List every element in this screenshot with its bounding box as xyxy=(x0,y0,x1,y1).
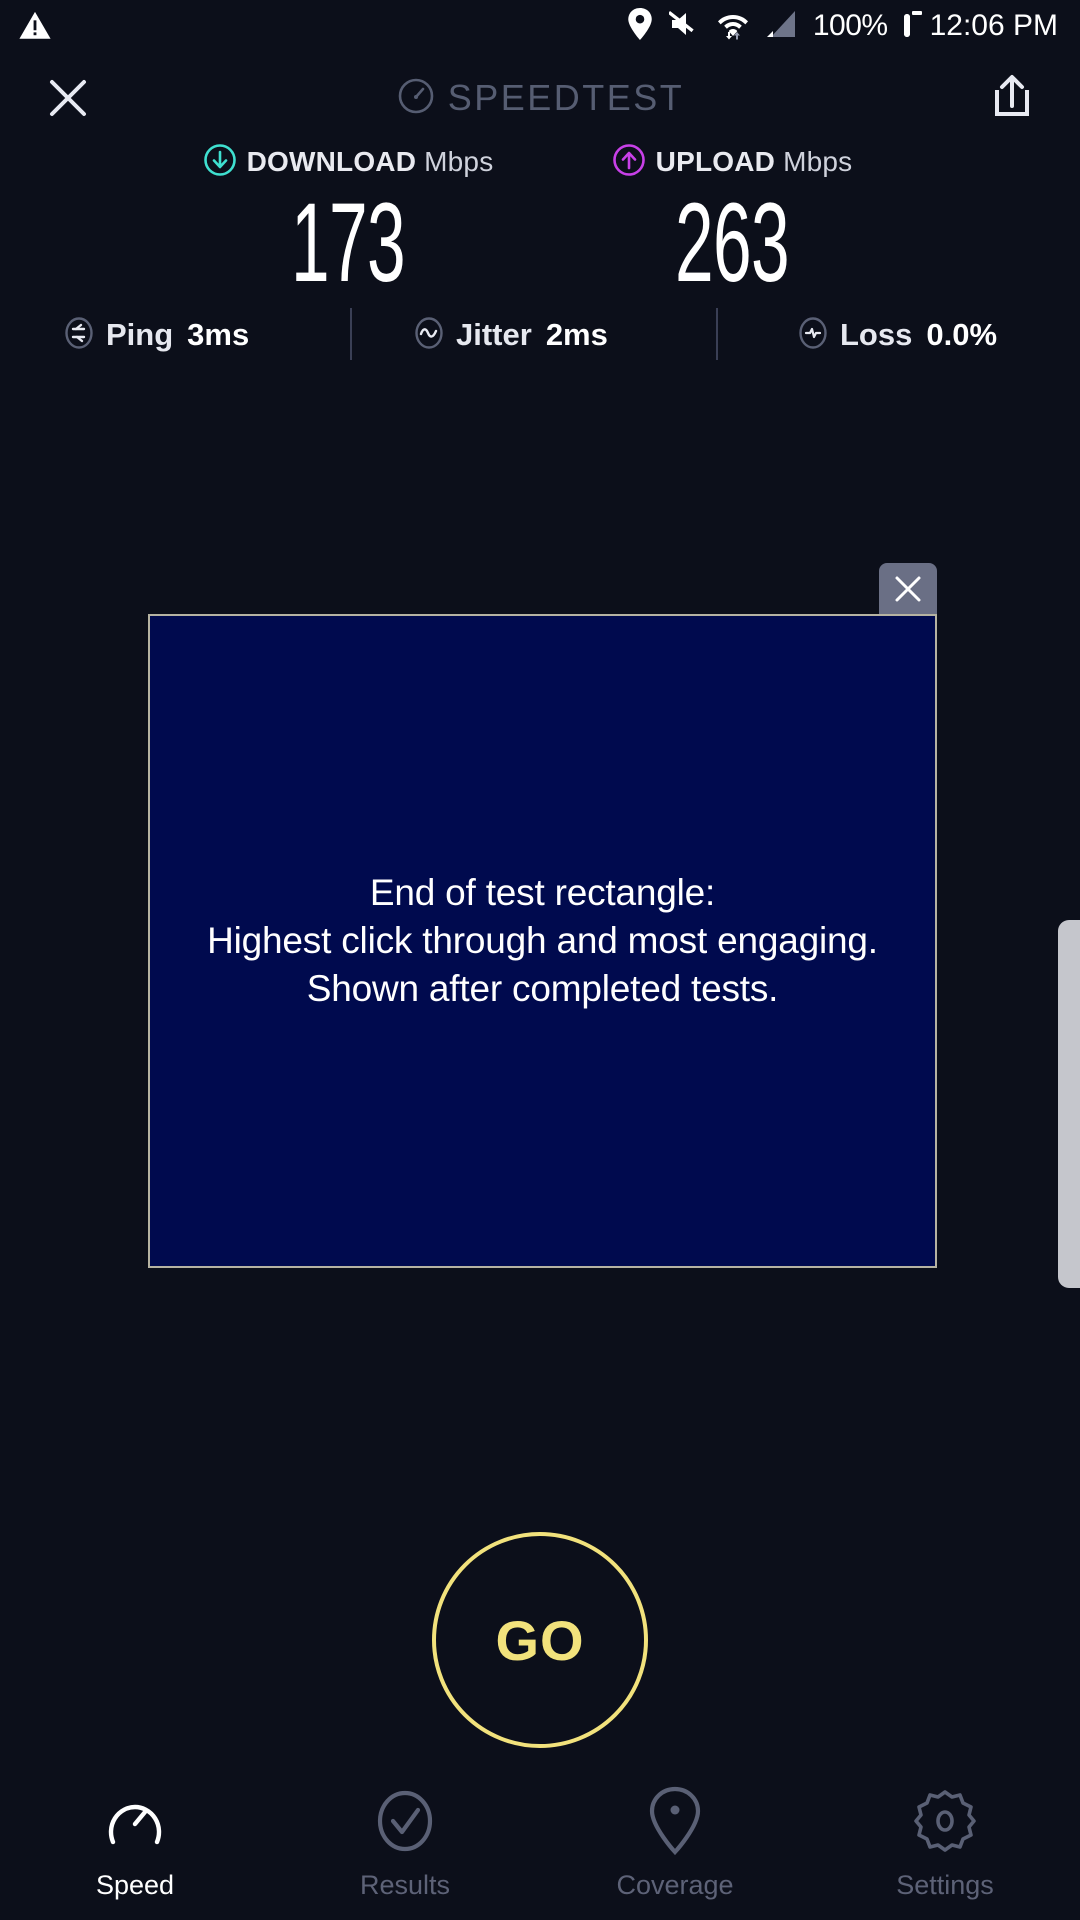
close-icon xyxy=(44,74,92,127)
brand-label: SPEEDTEST xyxy=(448,77,685,119)
bottom-navigation-bar: Speed Results Coverage xyxy=(0,1760,1080,1920)
upload-result: UPLOAD Mbps 263 xyxy=(542,142,922,296)
ping-icon xyxy=(62,316,96,355)
speed-results-row: DOWNLOAD Mbps 173 UPLOAD xyxy=(0,142,1080,296)
download-unit: Mbps xyxy=(424,146,493,177)
arrow-down-circle-icon xyxy=(203,143,237,182)
gear-icon xyxy=(913,1786,977,1856)
loss-value: 0.0% xyxy=(926,317,997,353)
loss-label: Loss xyxy=(840,317,912,353)
nav-item-results[interactable]: Results xyxy=(270,1760,540,1920)
upload-header: UPLOAD Mbps xyxy=(542,142,922,182)
metrics-row: Ping 3ms Jitter 2ms Loss 0.0 xyxy=(0,300,1080,370)
status-bar: 100% 12:06 PM xyxy=(0,0,1080,52)
warning-triangle-icon xyxy=(18,9,52,48)
metric-divider-2 xyxy=(716,308,718,360)
advertisement-banner[interactable]: End of test rectangle: Highest click thr… xyxy=(148,614,937,1268)
upload-value: 263 xyxy=(614,190,850,296)
go-button-label: GO xyxy=(495,1608,584,1673)
ad-line-1: End of test rectangle: xyxy=(370,869,715,917)
ad-line-3: Shown after completed tests. xyxy=(307,965,779,1013)
loss-icon xyxy=(796,316,830,355)
volume-muted-icon xyxy=(669,9,701,44)
jitter-icon xyxy=(412,316,446,355)
close-button[interactable] xyxy=(36,68,100,132)
download-value: 173 xyxy=(230,190,466,296)
ad-scrollbar[interactable] xyxy=(1058,920,1080,1288)
share-button[interactable] xyxy=(980,66,1044,130)
upload-label-group: UPLOAD Mbps xyxy=(656,146,853,178)
upload-label: UPLOAD xyxy=(656,146,775,177)
battery-percent-label: 100% xyxy=(813,9,888,43)
metric-loss: Loss 0.0% xyxy=(796,316,997,355)
nav-label-speed: Speed xyxy=(96,1870,174,1901)
nav-label-coverage: Coverage xyxy=(616,1870,733,1901)
speedometer-icon xyxy=(104,1786,166,1856)
status-bar-right-group: 100% 12:06 PM xyxy=(627,0,1058,52)
location-pin-icon xyxy=(627,8,653,45)
metric-jitter: Jitter 2ms xyxy=(412,316,608,355)
download-header: DOWNLOAD Mbps xyxy=(158,142,538,182)
nav-item-speed[interactable]: Speed xyxy=(0,1760,270,1920)
app-header: SPEEDTEST xyxy=(0,58,1080,138)
ad-text-block: End of test rectangle: Highest click thr… xyxy=(150,616,935,1266)
ad-line-2: Highest click through and most engaging. xyxy=(207,917,878,965)
jitter-value: 2ms xyxy=(546,317,608,353)
download-result: DOWNLOAD Mbps 173 xyxy=(158,142,538,296)
nav-item-coverage[interactable]: Coverage xyxy=(540,1760,810,1920)
jitter-label: Jitter xyxy=(456,317,532,353)
battery-full-icon xyxy=(904,17,910,35)
check-circle-icon xyxy=(374,1786,436,1856)
close-icon xyxy=(891,572,925,611)
ping-label: Ping xyxy=(106,317,173,353)
nav-item-settings[interactable]: Settings xyxy=(810,1760,1080,1920)
ping-value: 3ms xyxy=(187,317,249,353)
wifi-icon xyxy=(717,8,749,45)
share-icon xyxy=(989,72,1035,125)
cellular-signal-icon xyxy=(765,9,797,44)
speedometer-icon xyxy=(396,76,436,121)
results-panel: DOWNLOAD Mbps 173 UPLOAD xyxy=(0,142,1080,296)
metric-ping: Ping 3ms xyxy=(62,316,249,355)
download-label-group: DOWNLOAD Mbps xyxy=(247,146,494,178)
upload-unit: Mbps xyxy=(783,146,852,177)
brand-title: SPEEDTEST xyxy=(0,58,1080,138)
metric-divider-1 xyxy=(350,308,352,360)
nav-label-results: Results xyxy=(360,1870,450,1901)
go-button[interactable]: GO xyxy=(432,1532,648,1748)
download-label: DOWNLOAD xyxy=(247,146,417,177)
nav-label-settings: Settings xyxy=(896,1870,994,1901)
clock-label: 12:06 PM xyxy=(930,9,1058,43)
speedtest-app-screen: 100% 12:06 PM SPEEDTEST xyxy=(0,0,1080,1920)
location-pin-icon xyxy=(648,1786,702,1856)
ad-close-button[interactable] xyxy=(879,563,937,619)
arrow-up-circle-icon xyxy=(612,143,646,182)
